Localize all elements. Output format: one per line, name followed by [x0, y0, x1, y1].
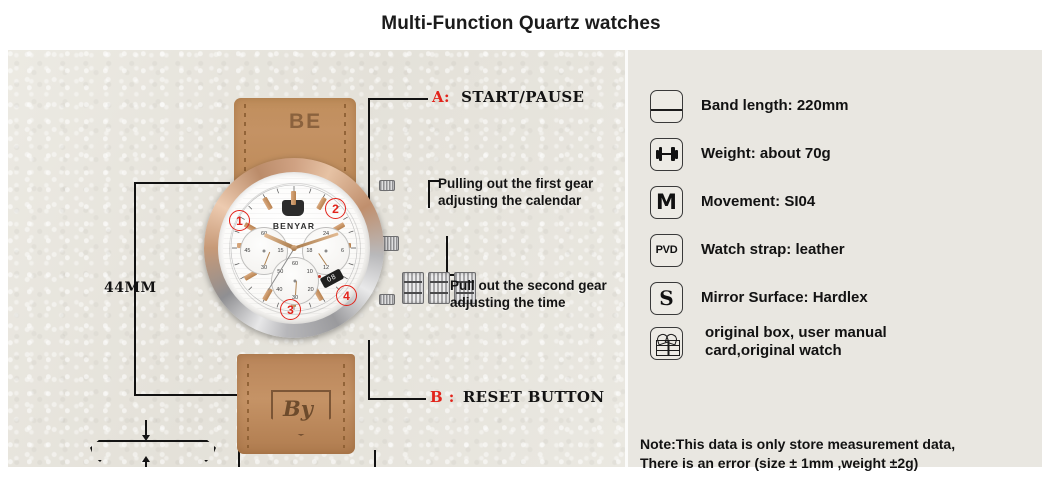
subdial-r-label-6: 6: [341, 248, 344, 254]
pvd-icon: PVD: [650, 234, 683, 267]
annotation-a-label: START/PAUSE: [461, 88, 584, 106]
spec-row-package: original box, user manual card,original …: [650, 322, 1040, 378]
hour-index-12: [291, 191, 296, 205]
spec-label-weight: Weight: about 70g: [701, 145, 831, 163]
subdial-b-cap: [294, 280, 297, 283]
subdial-b-label-60: 60: [292, 261, 298, 267]
subdial-r-hand: [318, 253, 327, 265]
annotation-a-key: A:: [432, 88, 450, 106]
spec-row-weight: Weight: about 70g: [650, 130, 1040, 178]
subdial-r-label-18: 18: [306, 248, 312, 254]
gift-box-icon: [650, 327, 683, 360]
stitch-left-bottom: [247, 364, 249, 448]
spec-label-movement: Movement: SI04: [701, 193, 815, 211]
note-line1: Note:This data is only store measurement…: [640, 435, 1040, 454]
annotation-first-gear-line2: adjusting the calendar: [438, 192, 625, 209]
watch-strap-bottom: By: [237, 354, 355, 454]
watch-product-image: BE By: [196, 98, 396, 448]
movement-icon-glyph: M: [656, 192, 677, 213]
subdial-b-label-10: 10: [307, 269, 313, 275]
gear-position-1: [428, 272, 450, 304]
arrow-down-icon: [145, 420, 147, 435]
callout-bubble-3: 3: [280, 299, 301, 320]
specs-panel: Band length: 220mm Weight: about 70g M M…: [625, 50, 1042, 467]
strap-emboss-top: BE: [289, 110, 322, 134]
annotation-second-gear-line2: adjusting the time: [450, 294, 625, 311]
callout-bubble-1: 1: [229, 210, 250, 231]
subdial-r-cap: [325, 250, 328, 253]
spec-list: Band length: 220mm Weight: about 70g M M…: [650, 82, 1040, 378]
measurement-note: Note:This data is only store measurement…: [640, 435, 1040, 473]
pvd-icon-glyph: PVD: [656, 244, 678, 256]
spec-row-band-length: Band length: 220mm: [650, 82, 1040, 130]
weight-dumbbell-icon: [650, 138, 683, 171]
annotation-first-gear: Pulling out the first gear adjusting the…: [438, 175, 625, 209]
pusher-reset[interactable]: [379, 294, 395, 305]
case-diameter-label: 44MM: [104, 280, 156, 296]
stitch-right-bottom: [343, 364, 345, 448]
annotation-b: B : RESET BUTTON: [430, 388, 605, 406]
subdial-l-label-15: 15: [277, 248, 283, 254]
spec-label-mirror: Mirror Surface: Hardlex: [701, 289, 868, 307]
annotation-first-gear-line1: Pulling out the first gear: [438, 175, 625, 192]
leader-gear1-vertical: [428, 180, 430, 208]
subdial-b-label-40: 40: [276, 287, 282, 293]
strap-emboss-bottom: By: [283, 396, 313, 421]
band-length-icon: [650, 90, 683, 123]
pusher-start-pause[interactable]: [379, 180, 395, 191]
subdial-l-hand: [264, 252, 270, 265]
page-title: Multi-Function Quartz watches: [0, 0, 1042, 48]
subdial-l-cap: [263, 250, 266, 253]
annotation-second-gear: Pull out the second gear adjusting the t…: [450, 277, 625, 311]
subdial-r-label-12: 12: [323, 265, 329, 271]
subdial-l-label-30: 30: [261, 265, 267, 271]
spec-label-package: original box, user manual card,original …: [705, 324, 887, 360]
spec-row-movement: M Movement: SI04: [650, 178, 1040, 226]
leader-gear2-vertical: [446, 236, 448, 276]
annotation-b-label: RESET BUTTON: [463, 388, 605, 406]
spec-label-strap: Watch strap: leather: [701, 241, 845, 259]
gear-position-0: [402, 272, 424, 304]
subdial-b-label-20: 20: [308, 287, 314, 293]
callout-bubble-2: 2: [325, 198, 346, 219]
annotation-second-gear-line1: Pull out the second gear: [450, 277, 625, 294]
arrow-up-icon: [145, 462, 147, 467]
bottom-subdial-seconds: 60 50 40 30 20 10: [271, 257, 319, 305]
product-infographic: Multi-Function Quartz watches 44MM 22MM …: [0, 0, 1042, 477]
mirror-surface-s-icon: S: [650, 282, 683, 315]
package-line2: card,original watch: [705, 342, 887, 360]
annotation-a: A: START/PAUSE: [432, 88, 584, 106]
left-diagram-panel: 44MM 22MM Dial thickness: 14mm: [8, 50, 625, 467]
hands-center-cap: [291, 245, 297, 251]
subdial-l-label-45: 45: [244, 248, 250, 254]
movement-m-icon: M: [650, 186, 683, 219]
spec-row-strap: PVD Watch strap: leather: [650, 226, 1040, 274]
spec-label-band-length: Band length: 220mm: [701, 97, 849, 115]
mirror-icon-glyph: S: [659, 288, 673, 308]
annotation-b-key: B :: [430, 388, 455, 406]
callout-bubble-4: 4: [336, 285, 357, 306]
spec-row-mirror: S Mirror Surface: Hardlex: [650, 274, 1040, 322]
note-line2: There is an error (size ± 1mm ,weight ±2…: [640, 454, 1040, 473]
package-line1: original box, user manual: [705, 324, 887, 342]
subdial-b-hand: [295, 281, 297, 295]
